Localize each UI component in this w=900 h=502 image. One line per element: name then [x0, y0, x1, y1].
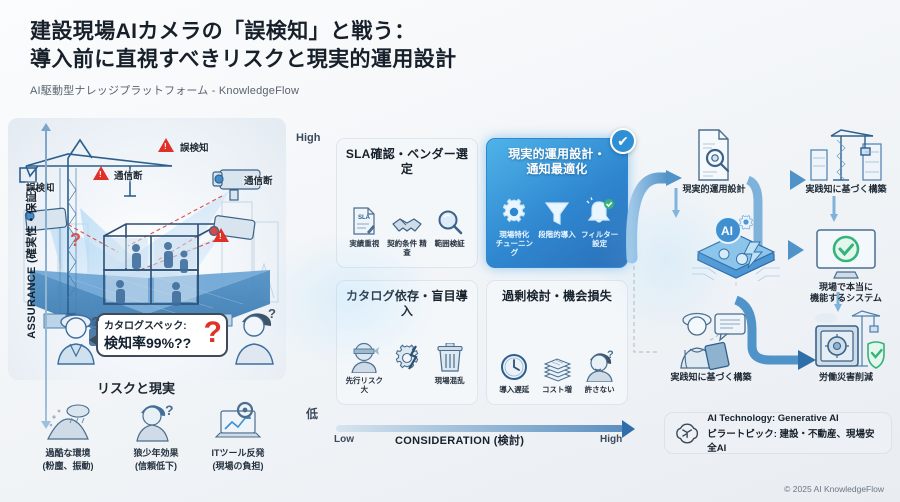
caption-cost-increase: コスト増 [536, 385, 578, 394]
caption-rollout-delay: 導入遅延 [493, 385, 535, 394]
paper-stack-icon [536, 346, 578, 382]
risk-label-1a: 過酷な環境 [22, 446, 114, 459]
icon-group-pioneer-risk: 先行リスク大 [343, 337, 385, 394]
gear-icon [493, 191, 535, 227]
ai-chip-icon: AI [690, 212, 782, 286]
laptop-tool-icon [192, 400, 284, 444]
flow-label-field-worker: 実践知に基づく構築 [656, 372, 766, 383]
risk-label-1b: (粉塵、振動) [22, 459, 114, 472]
icon-group-filter-settings: フィルター 設定 [579, 191, 621, 257]
quadrant-title-top-right: 現実的運用設計・ 通知最適化 [508, 147, 606, 177]
quadrant-excessive-consideration[interactable]: 過剰検討・機会損失 導入遅延 [486, 280, 628, 405]
worker-avatar-left: ? [48, 306, 104, 368]
quadrant-title-bottom-right: 過剰検討・機会損失 [502, 289, 612, 304]
icon-group-site-confusion: 現場混乱 [429, 337, 471, 394]
blindfold-person-icon [343, 337, 385, 373]
svg-text:SLA: SLA [358, 215, 371, 221]
ai-badge-line-2: ピラートピック: 建設・不動産、現場安全AI [707, 426, 881, 454]
svg-text:?: ? [165, 402, 174, 418]
risk-label-2b: (信頼低下) [110, 459, 202, 472]
warn-label-2: 通信断 [114, 168, 143, 182]
icon-group-track-record: SLA 実績重視 [343, 200, 385, 257]
caption-scope-verification: 範囲検証 [429, 239, 471, 248]
risk-label-3a: ITツール反発 [192, 446, 284, 459]
warn-label-4: 通信断 [244, 173, 273, 187]
flow-label-design-doc: 現実的運用設計 [672, 184, 756, 195]
y-axis-title: ASSURANCE (確実性・保証) [23, 168, 39, 358]
icon-group-scope-verification: 範囲検証 [429, 200, 471, 257]
question-mark-icon: ? [204, 318, 222, 348]
caption-track-record: 実績重視 [343, 239, 385, 248]
quadrant-realistic-operation-design[interactable]: ✔ 現実的運用設計・ 通知最適化 現場特化 チューニング 段階的導入 [486, 138, 628, 268]
flow-label-safety-vault: 労働災害削減 [796, 372, 896, 383]
worker-tablet-icon [656, 308, 766, 370]
infographic-page: 建設現場AIカメラの「誤検知」と戦う： 導入前に直視すべきリスクと現実的運用設計… [0, 0, 900, 502]
icon-group-field-tuning: 現場特化 チューニング [493, 191, 535, 257]
bubble-line-2: 検知率99%?? [104, 333, 220, 353]
quadrant-catalog-dependence[interactable]: カタログ依存・盲目導入 先行リスク大 [336, 280, 478, 405]
sla-document-icon: SLA [343, 200, 385, 236]
flow-node-field-worker: 実践知に基づく構築 [656, 308, 766, 383]
x-axis-high-label: High [600, 434, 622, 445]
dust-vibration-icon [22, 400, 114, 444]
risk-reality-heading: リスクと現実 [97, 378, 175, 397]
x-axis-low-label: Low [334, 434, 354, 445]
caption-phased-rollout: 段階的導入 [536, 230, 578, 239]
warning-triangle-icon-3 [213, 228, 229, 242]
warning-triangle-icon-2 [93, 166, 109, 180]
risk-label-2a: 狼少年効果 [110, 446, 202, 459]
quadrant-title-top-left: SLA確認・ベンダー選定 [343, 147, 471, 177]
bell-check-icon [579, 191, 621, 227]
flow-label-working-system: 現場で本当に 機能するシステム [796, 282, 896, 305]
broken-gear-icon [386, 337, 428, 373]
icon-group-not-allowed: ? 許さない [579, 346, 621, 394]
x-axis-line [336, 425, 624, 432]
flow-node-ai-core: AI [690, 212, 782, 288]
catalog-spec-speech-bubble: カタログスペック: 検知率99%?? ? [96, 313, 228, 357]
svg-text:?: ? [70, 230, 81, 250]
flow-node-safety-vault: 労働災害削減 [796, 308, 896, 383]
handshake-icon [386, 200, 428, 236]
false-alarm-person-icon: ? [110, 400, 202, 444]
ai-badge-line-1: AI Technology: Generative AI [707, 413, 881, 424]
worker-avatar-right: ? [228, 304, 284, 368]
magnifier-icon [429, 200, 471, 236]
risk-label-3b: (現場の負担) [192, 459, 284, 472]
risk-item-it-tool-resistance: ITツール反発 (現場の負担) [192, 400, 284, 472]
quadrant-title-bottom-left: カタログ依存・盲目導入 [343, 289, 471, 319]
y-axis-low-label: 低 [306, 405, 318, 422]
svg-text:?: ? [92, 314, 100, 329]
safe-vault-shield-icon [796, 308, 896, 370]
flow-node-design-doc: 現実的運用設計 [672, 128, 756, 195]
caption-contract-review: 契約条件 精査 [386, 239, 428, 257]
funnel-icon [536, 191, 578, 227]
bubble-line-1: カタログスペック: [104, 317, 220, 332]
openai-logo-icon [675, 420, 699, 446]
monitor-check-icon [796, 228, 896, 280]
page-header: 建設現場AIカメラの「誤検知」と戦う： 導入前に直視すべきリスクと現実的運用設計… [30, 18, 730, 98]
page-title-line1: 建設現場AIカメラの「誤検知」と戦う： [30, 18, 730, 46]
document-gear-magnifier-icon [672, 128, 756, 182]
warning-triangle-icon-1 [158, 138, 174, 152]
icon-group-broken-gear [386, 337, 428, 394]
icon-group-phased-rollout: 段階的導入 [536, 191, 578, 257]
flow-node-construction: 実践知に基づく構築 [796, 128, 896, 195]
crane-building-icon [796, 128, 896, 182]
y-axis-line [45, 130, 47, 422]
caption-field-tuning: 現場特化 チューニング [493, 230, 535, 257]
x-axis-title: CONSIDERATION (検討) [395, 432, 524, 448]
y-axis-high-label: High [296, 132, 320, 144]
clock-icon [493, 346, 535, 382]
page-title-line2: 導入前に直視すべきリスクと現実的運用設計 [30, 46, 730, 74]
trash-icon [429, 337, 471, 373]
ai-technology-badge: AI Technology: Generative AI ピラートピック: 建設… [664, 412, 892, 454]
caption-pioneer-risk: 先行リスク大 [343, 376, 385, 394]
copyright-text: © 2025 AI KnowledgeFlow [784, 484, 884, 494]
caption-filter-settings: フィルター 設定 [579, 230, 621, 248]
svg-text:?: ? [607, 350, 614, 361]
quadrant-sla-vendor-selection[interactable]: SLA確認・ベンダー選定 SLA 実績重視 [336, 138, 478, 268]
page-subtitle: AI駆動型ナレッジプラットフォーム - KnowledgeFlow [30, 82, 730, 98]
caption-not-allowed: 許さない [579, 385, 621, 394]
risk-item-harsh-environment: 過酷な環境 (粉塵、振動) [22, 400, 114, 472]
warn-label-1: 誤検知 [180, 140, 209, 154]
svg-text:?: ? [268, 306, 276, 321]
flow-node-working-system: 現場で本当に 機能するシステム [796, 228, 896, 305]
icon-group-rollout-delay: 導入遅延 [493, 346, 535, 394]
icon-group-cost-increase: コスト増 [536, 346, 578, 394]
svg-text:AI: AI [721, 224, 733, 238]
thinking-person-icon: ? [579, 346, 621, 382]
flow-label-construction: 実践知に基づく構築 [796, 184, 896, 195]
caption-site-confusion: 現場混乱 [429, 376, 471, 385]
risk-item-cry-wolf: ? 狼少年効果 (信頼低下) [110, 400, 202, 472]
icon-group-contract-review: 契約条件 精査 [386, 200, 428, 257]
